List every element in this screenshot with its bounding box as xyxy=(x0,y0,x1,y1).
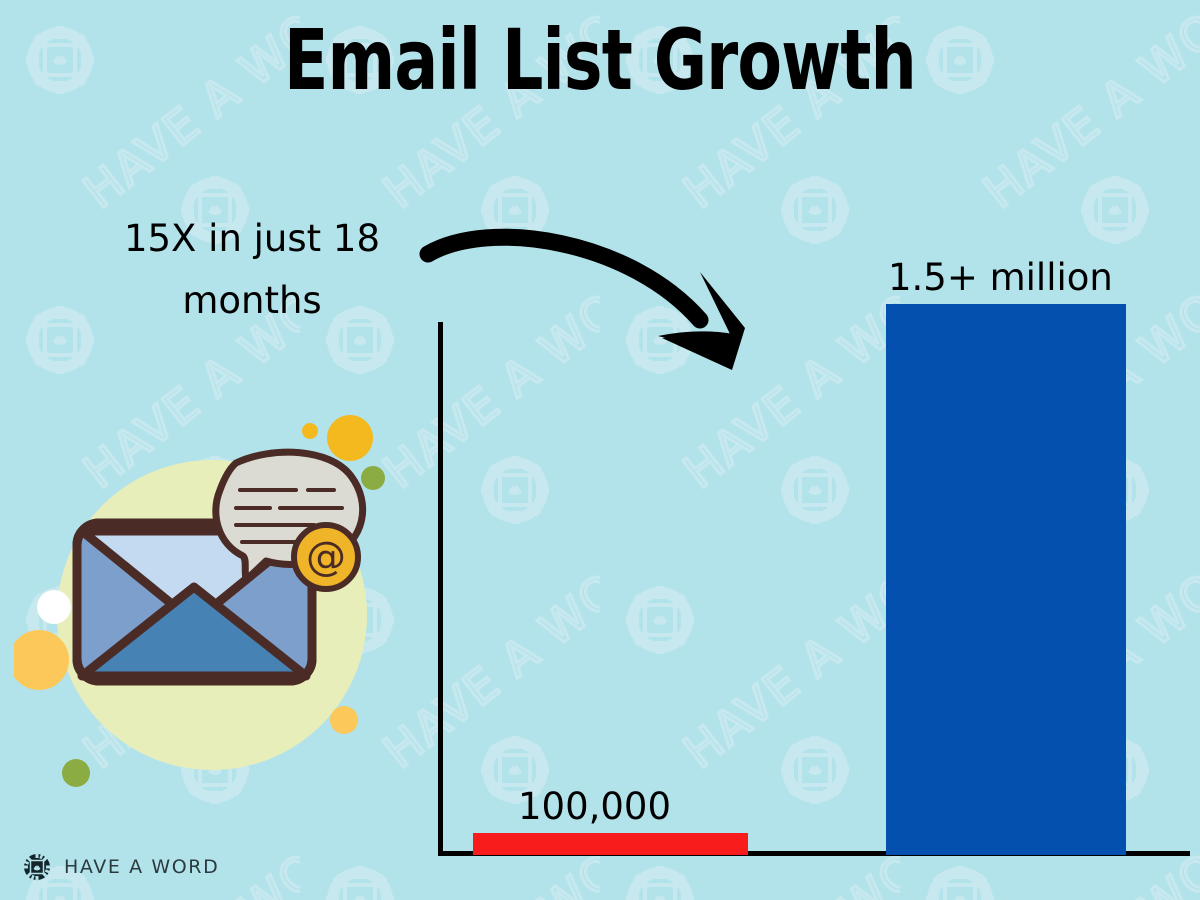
bar-label-before: 100,000 xyxy=(518,787,671,827)
dot-yellow-large xyxy=(327,415,373,461)
y-axis xyxy=(438,322,443,856)
dot-green-bottom xyxy=(62,759,90,787)
email-envelope-illustration: @ xyxy=(14,410,414,810)
dot-yellow-right xyxy=(330,706,358,734)
bar-chart: 100,000 1.5+ million xyxy=(430,300,1190,860)
dot-green-top xyxy=(361,466,385,490)
page-title: Email List Growth xyxy=(84,14,1116,106)
bar-after xyxy=(886,304,1126,855)
growth-callout: 15X in just 18 months xyxy=(72,208,432,332)
dot-yellow-small xyxy=(302,423,318,439)
dot-white xyxy=(37,590,71,624)
brand-logo: HAVE A WORD xyxy=(22,852,219,882)
infographic-canvas: HAVE A WORD Email List Growth 15X in jus… xyxy=(0,0,1200,900)
badge-emblem-icon xyxy=(22,852,52,882)
bar-label-after: 1.5+ million xyxy=(888,258,1113,298)
callout-line-2: months xyxy=(72,270,432,332)
logo-text: HAVE A WORD xyxy=(64,856,219,878)
at-symbol: @ xyxy=(306,534,346,580)
bar-before xyxy=(473,833,748,855)
callout-line-1: 15X in just 18 xyxy=(124,217,380,260)
